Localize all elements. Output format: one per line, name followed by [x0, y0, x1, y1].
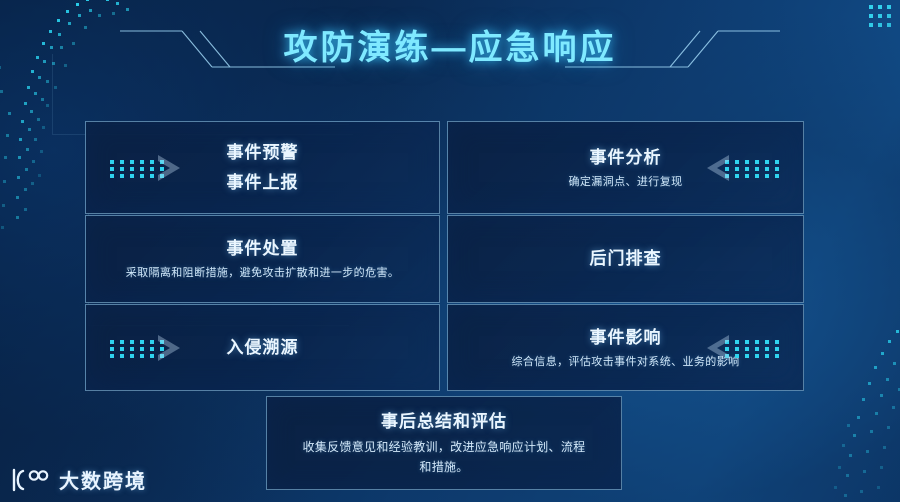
- card-backdoor-check[interactable]: 后门排查: [447, 215, 804, 303]
- card-title-line2: 事件上报: [227, 170, 299, 196]
- card-event-warning[interactable]: 事件预警 事件上报: [85, 121, 440, 214]
- card-title: 后门排查: [590, 246, 662, 272]
- summary-subtitle-line2: 和措施。: [419, 457, 468, 477]
- card-intrusion-tracing[interactable]: 入侵溯源: [85, 304, 440, 391]
- page-title: 攻防演练—应急响应: [0, 22, 900, 74]
- card-event-analysis[interactable]: 事件分析 确定漏洞点、进行复现: [447, 121, 804, 214]
- card-title: 事件分析: [590, 145, 662, 171]
- dot-grid-arrow-right-icon: [108, 151, 186, 185]
- brand-logo: 大数跨境: [10, 465, 147, 494]
- process-card-grid: 事件预警 事件上报 事件分析 确定漏洞点、进行复现: [85, 121, 804, 391]
- card-title: 事件处置: [227, 236, 299, 262]
- card-event-handling[interactable]: 事件处置 采取隔离和阻断措施，避免攻击扩散和进一步的危害。: [85, 215, 440, 303]
- card-event-impact[interactable]: 事件影响 综合信息，评估攻击事件对系统、业务的影响: [447, 304, 804, 391]
- card-subtitle: 采取隔离和阻断措施，避免攻击扩散和进一步的危害。: [126, 265, 400, 282]
- dot-grid-arrow-left-icon: [703, 331, 781, 365]
- brand-logo-text: 大数跨境: [59, 465, 147, 494]
- card-subtitle: 确定漏洞点、进行复现: [569, 174, 683, 191]
- k-infinity-mark-icon: [10, 467, 52, 493]
- title-block: 攻防演练—应急响应: [0, 22, 900, 94]
- card-title: 事件预警: [227, 140, 299, 166]
- card-title: 入侵溯源: [227, 335, 299, 361]
- summary-title: 事后总结和评估: [381, 409, 507, 435]
- card-post-review-summary[interactable]: 事后总结和评估 收集反馈意见和经验教训，改进应急响应计划、流程 和措施。: [266, 396, 622, 490]
- summary-subtitle-line1: 收集反馈意见和经验教训，改进应急响应计划、流程: [303, 437, 586, 457]
- dot-grid-arrow-right-icon: [108, 331, 186, 365]
- slide-canvas: 攻防演练—应急响应 事件预警 事件上报: [0, 0, 900, 502]
- dot-grid-arrow-left-icon: [703, 151, 781, 185]
- card-title: 事件影响: [590, 325, 662, 351]
